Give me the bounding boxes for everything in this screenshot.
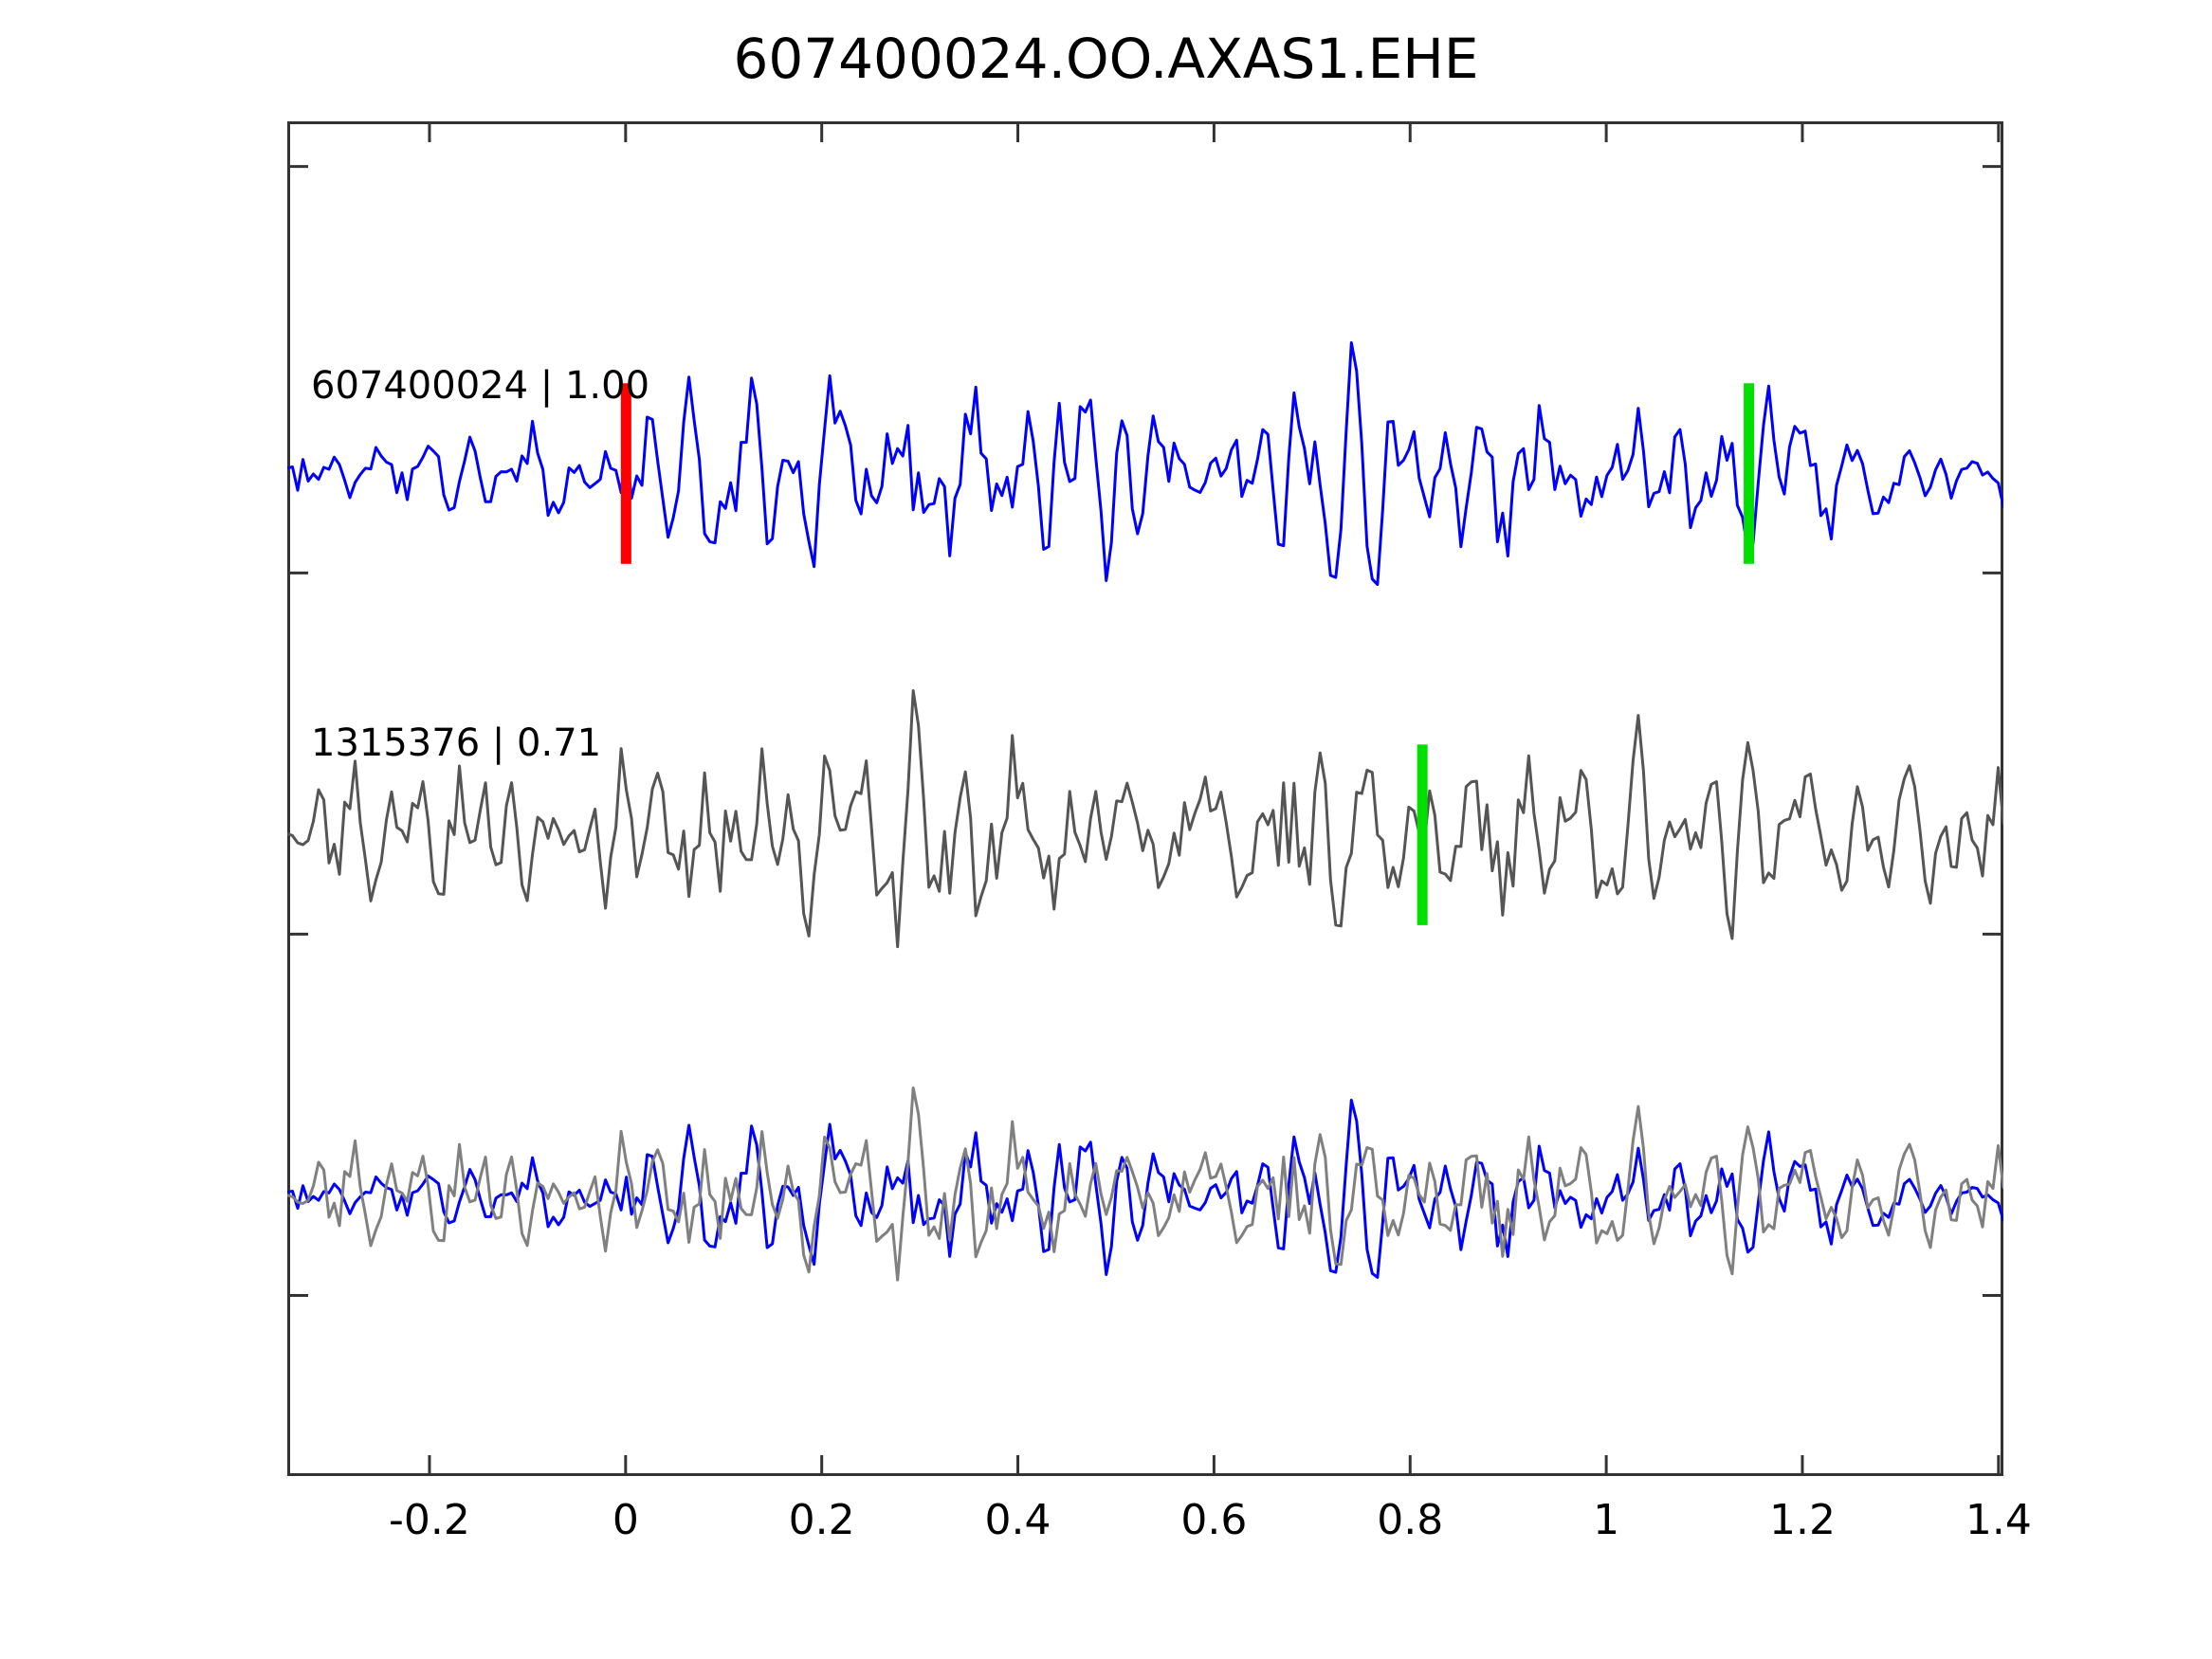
axis-ticks: [287, 121, 2003, 1476]
trace-label-detection: 1315376 | 0.71: [311, 721, 601, 765]
plot-frame: [289, 123, 2002, 1475]
x-tick-label-3: 0.4: [985, 1496, 1051, 1544]
x-tick-label-1: 0: [612, 1496, 639, 1544]
marker-pick-s-panel-1: [1417, 744, 1428, 925]
waveform-canvas: [287, 121, 2003, 1476]
seismogram-figure: 607400024.OO.AXAS1.EHE 607400024 | 1.00 …: [0, 0, 2212, 1659]
x-tick-label-7: 1.2: [1769, 1496, 1836, 1544]
page-title: 607400024.OO.AXAS1.EHE: [0, 27, 2212, 91]
waveform-1315376-overlay: [287, 1088, 2003, 1281]
marker-pick-p-panel-0: [621, 383, 631, 564]
trace-label-template: 607400024 | 1.00: [311, 364, 649, 408]
x-tick-label-5: 0.8: [1377, 1496, 1443, 1544]
x-tick-label-6: 1: [1593, 1496, 1619, 1544]
x-tick-label-8: 1.4: [1965, 1496, 2032, 1544]
x-tick-label-4: 0.6: [1180, 1496, 1247, 1544]
x-tick-label-2: 0.2: [789, 1496, 855, 1544]
marker-pick-s-panel-0: [1744, 383, 1754, 564]
x-tick-label-0: -0.2: [389, 1496, 470, 1544]
plot-area: 607400024 | 1.00 1315376 | 0.71: [287, 121, 2003, 1476]
